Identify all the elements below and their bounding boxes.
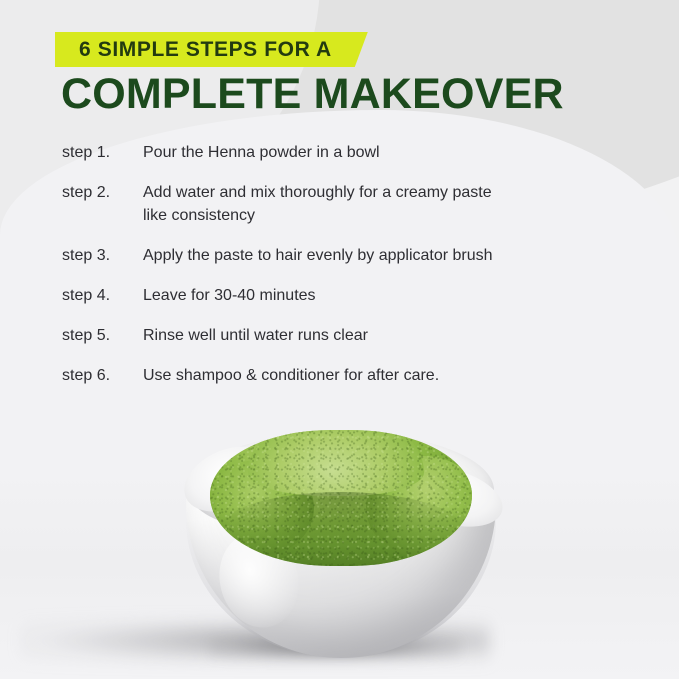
step-text: Leave for 30-40 minutes: [143, 284, 518, 307]
list-item: step 5. Rinse well until water runs clea…: [62, 324, 622, 347]
step-label: step 1.: [62, 141, 143, 164]
step-text: Use shampoo & conditioner for after care…: [143, 364, 518, 387]
eyebrow-text: 6 SIMPLE STEPS FOR A: [79, 32, 332, 67]
page-title: COMPLETE MAKEOVER: [61, 71, 564, 117]
step-label: step 6.: [62, 364, 143, 387]
steps-list: step 1. Pour the Henna powder in a bowl …: [62, 141, 622, 404]
product-photo: [0, 400, 679, 679]
step-text: Pour the Henna powder in a bowl: [143, 141, 518, 164]
list-item: step 1. Pour the Henna powder in a bowl: [62, 141, 622, 164]
step-label: step 4.: [62, 284, 143, 307]
step-label: step 3.: [62, 244, 143, 267]
henna-steps-infographic: 6 SIMPLE STEPS FOR A COMPLETE MAKEOVER s…: [0, 0, 679, 679]
list-item: step 4. Leave for 30-40 minutes: [62, 284, 622, 307]
eyebrow-banner: 6 SIMPLE STEPS FOR A: [55, 32, 368, 67]
list-item: step 6. Use shampoo & conditioner for af…: [62, 364, 622, 387]
step-text: Rinse well until water runs clear: [143, 324, 518, 347]
eyebrow-banner-shape: 6 SIMPLE STEPS FOR A: [55, 32, 368, 67]
powder-grain-texture: [210, 430, 472, 566]
henna-powder-heap: [210, 430, 472, 566]
step-label: step 5.: [62, 324, 143, 347]
step-text: Add water and mix thoroughly for a cream…: [143, 181, 518, 227]
step-text: Apply the paste to hair evenly by applic…: [143, 244, 518, 267]
list-item: step 3. Apply the paste to hair evenly b…: [62, 244, 622, 267]
step-label: step 2.: [62, 181, 143, 204]
list-item: step 2. Add water and mix thoroughly for…: [62, 181, 622, 227]
henna-powder-bowl-image: [186, 436, 496, 658]
